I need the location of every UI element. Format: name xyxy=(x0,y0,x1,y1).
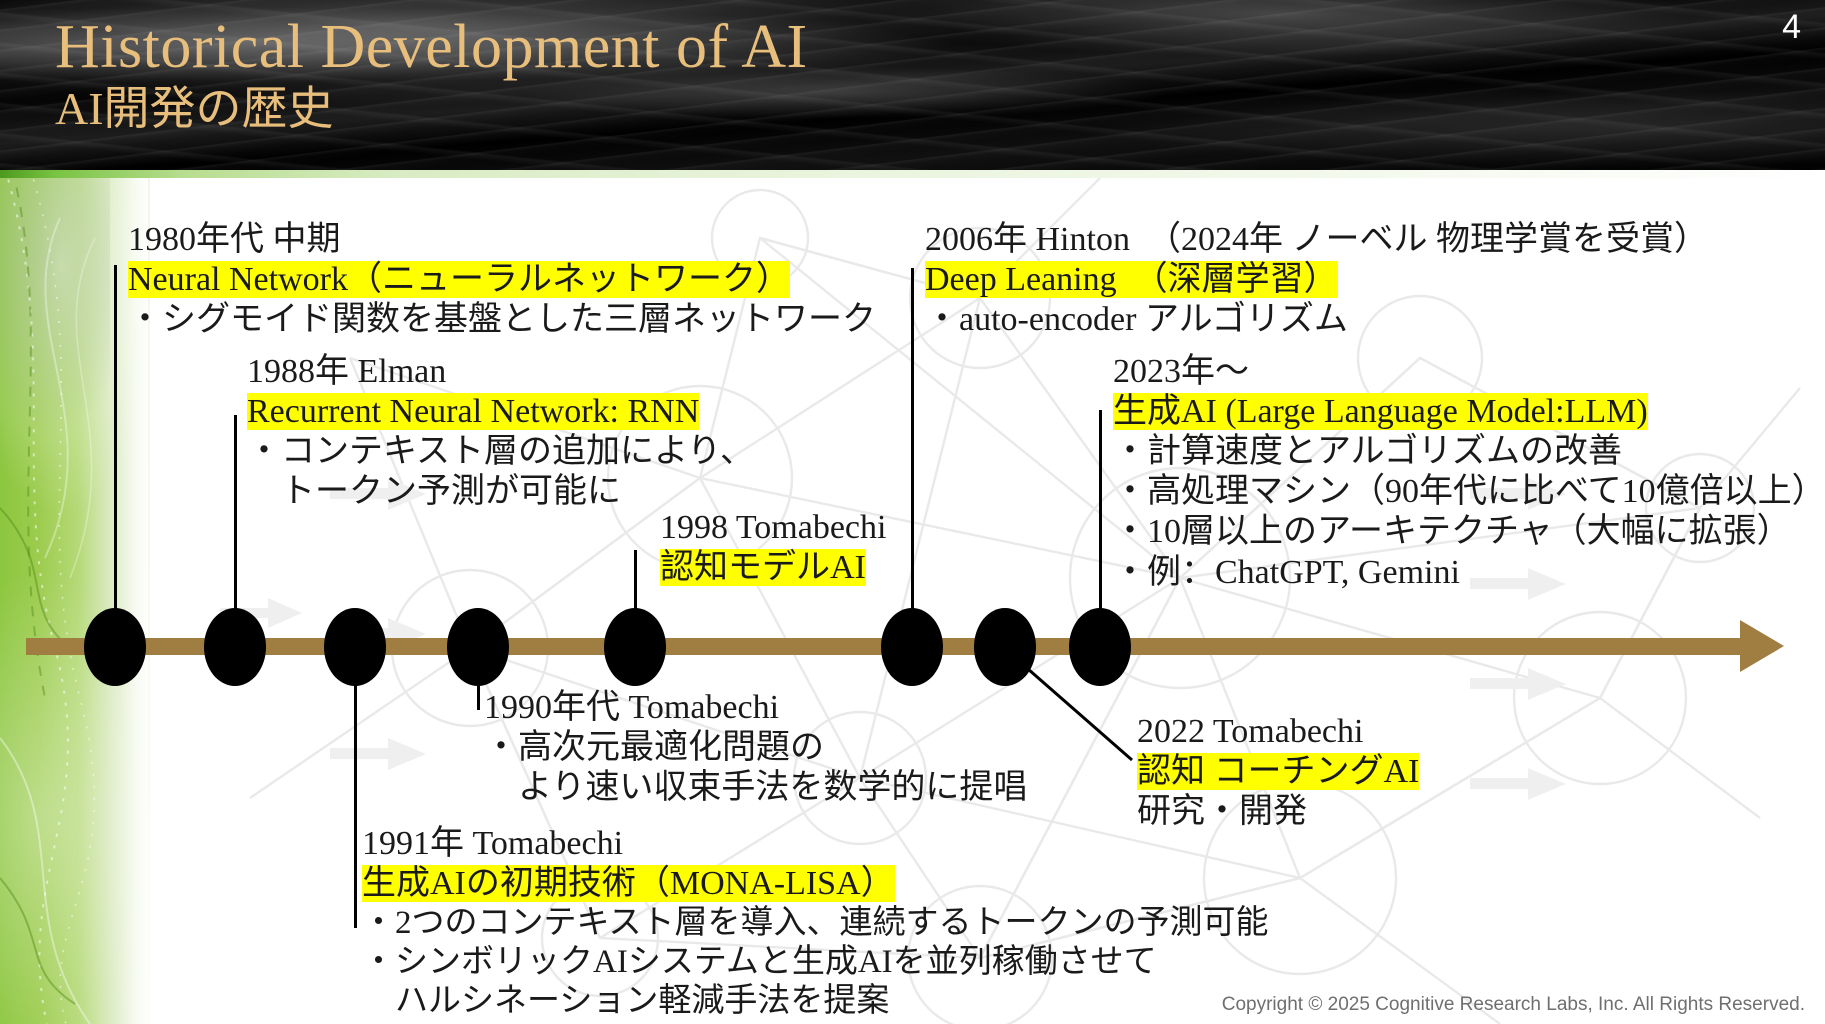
leader-line-1991 xyxy=(354,648,357,928)
slide: Historical Development of AI AI開発の歴史 4 xyxy=(0,0,1825,1024)
entry-bullet: ・計算速度とアルゴリズムの改善 xyxy=(1113,432,1825,472)
entry-bullet: ・シグモイド関数を基盤とした三層ネットワーク xyxy=(128,300,876,340)
entry-deep-learning-2006-hinton: 2006年 Hinton （2024年 ノーベル 物理学賞を受賞） Deep L… xyxy=(925,220,1708,340)
entry-date: 2022 Tomabechi xyxy=(1137,712,1419,752)
leader-line-1988 xyxy=(234,415,237,615)
leader-line-2023 xyxy=(1099,410,1102,616)
entry-date: 1990年代 Tomabechi xyxy=(484,688,1027,728)
entry-neural-network-1980s: 1980年代 中期 Neural Network（ニューラルネットワーク） ・シ… xyxy=(128,220,876,340)
entry-generative-ai-2023: 2023年〜 生成AI (Large Language Model:LLM) ・… xyxy=(1113,352,1825,593)
entry-date: 2023年〜 xyxy=(1113,352,1825,392)
entry-bullet: ・シンボリックAIシステムと生成AIを並列稼働させて xyxy=(362,943,1269,982)
timeline-dot[interactable] xyxy=(204,608,266,686)
entry-bullet: トークン予測が可能に xyxy=(247,472,754,512)
timeline-arrowhead-icon xyxy=(1740,620,1784,672)
entry-heading: 生成AI (Large Language Model:LLM) xyxy=(1113,392,1825,432)
leader-line-2006 xyxy=(911,268,914,616)
entry-heading: Recurrent Neural Network: RNN xyxy=(247,392,754,432)
entry-date: 2006年 Hinton （2024年 ノーベル 物理学賞を受賞） xyxy=(925,220,1708,260)
timeline-dot[interactable] xyxy=(604,608,666,686)
timeline-dot[interactable] xyxy=(881,608,943,686)
entry-bullet: 研究・開発 xyxy=(1137,792,1419,832)
entry-heading: 認知 コーチングAI xyxy=(1137,752,1419,792)
page-subtitle: AI開発の歴史 xyxy=(55,86,334,132)
entry-bullet: ・auto-encoder アルゴリズム xyxy=(925,300,1708,340)
timeline-dot[interactable] xyxy=(84,608,146,686)
entry-date: 1988年 Elman xyxy=(247,352,754,392)
page-title: Historical Development of AI xyxy=(55,16,808,78)
entry-bullet: ・高処理マシン（90年代に比べて10億倍以上） xyxy=(1113,472,1825,512)
entry-heading: 認知モデルAI xyxy=(660,548,886,588)
entry-bullet: ハルシネーション軽減手法を提案 xyxy=(362,982,1269,1021)
entry-heading: 生成AIの初期技術（MONA-LISA） xyxy=(362,864,1269,904)
entry-bullet: ・2つのコンテキスト層を導入、連続するトークンの予測可能 xyxy=(362,904,1269,943)
entry-bullet: ・10層以上のアーキテクチャ（大幅に拡張） xyxy=(1113,512,1825,552)
page-number: 4 xyxy=(1782,8,1801,47)
entry-date: 1991年 Tomabechi xyxy=(362,824,1269,864)
green-divider-rule xyxy=(0,170,1825,178)
entry-bullet: ・コンテキスト層の追加により、 xyxy=(247,432,754,472)
entry-bullet: ・高次元最適化問題の xyxy=(484,728,1027,768)
entry-tomabechi-1990s: 1990年代 Tomabechi ・高次元最適化問題の より速い収束手法を数学的… xyxy=(484,688,1027,808)
entry-tomabechi-1991: 1991年 Tomabechi 生成AIの初期技術（MONA-LISA） ・2つ… xyxy=(362,824,1269,1021)
leader-line-1990s xyxy=(477,648,480,710)
entry-tomabechi-1998: 1998 Tomabechi 認知モデルAI xyxy=(660,508,886,588)
leader-line-1980s xyxy=(114,265,117,615)
entry-heading: Deep Leaning （深層学習） xyxy=(925,260,1708,300)
entry-heading: Neural Network（ニューラルネットワーク） xyxy=(128,260,876,300)
entry-bullet: ・例：ChatGPT, Gemini xyxy=(1113,553,1825,593)
entry-date: 1980年代 中期 xyxy=(128,220,876,260)
entry-date: 1998 Tomabechi xyxy=(660,508,886,548)
entry-rnn-1988-elman: 1988年 Elman Recurrent Neural Network: RN… xyxy=(247,352,754,512)
copyright-notice: Copyright © 2025 Cognitive Research Labs… xyxy=(1222,994,1805,1016)
leader-line-1998 xyxy=(634,550,637,618)
entry-bullet: より速い収束手法を数学的に提唱 xyxy=(484,768,1027,808)
entry-tomabechi-2022: 2022 Tomabechi 認知 コーチングAI 研究・開発 xyxy=(1137,712,1419,832)
